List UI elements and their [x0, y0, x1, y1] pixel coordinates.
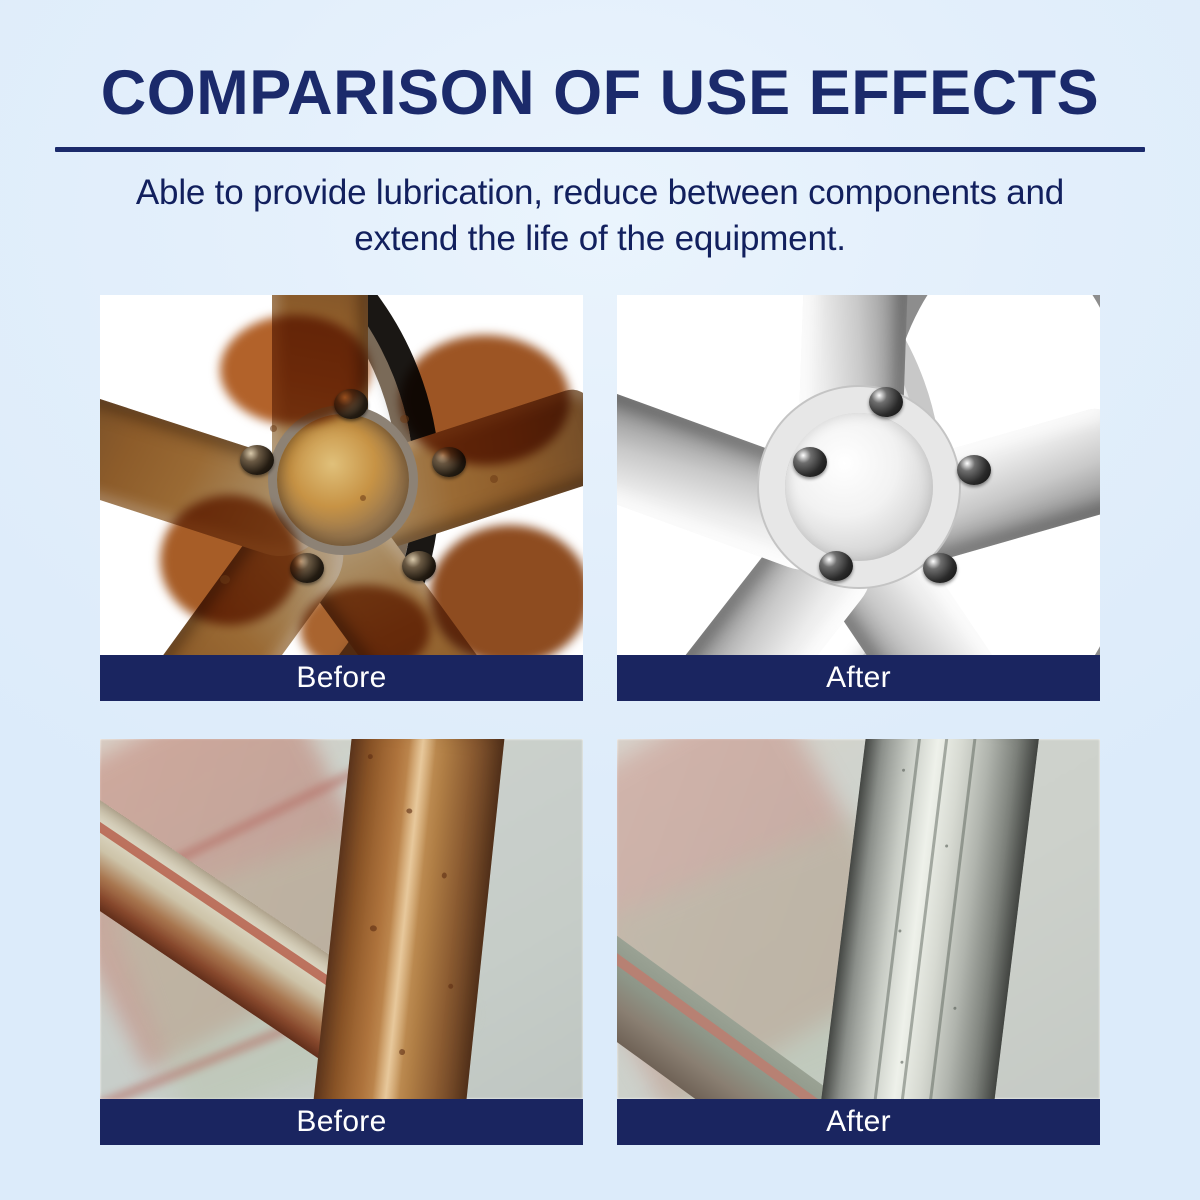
panel-wheel-before: Before — [100, 295, 583, 701]
panel-label-before: Before — [100, 1099, 583, 1145]
rust-speck — [370, 925, 378, 932]
pipe-speck — [898, 929, 901, 932]
rusty-wheel-illustration — [100, 295, 583, 655]
panel-pipe-before: Before — [100, 739, 583, 1145]
rust-blob — [220, 315, 370, 425]
photo-rusty-wheel — [100, 295, 583, 655]
rust-blob — [430, 525, 583, 655]
wheel-lug-nut — [869, 387, 903, 417]
page-subtitle: Able to provide lubrication, reduce betw… — [0, 170, 1200, 261]
pipe-speck — [902, 769, 905, 772]
rust-blob — [160, 495, 300, 625]
page-header: COMPARISON OF USE EFFECTS Able to provid… — [0, 0, 1200, 261]
panel-pipe-after: After — [617, 739, 1100, 1145]
rust-speck — [270, 425, 277, 432]
rust-speck — [220, 575, 230, 584]
pipe-speck — [945, 844, 948, 847]
rust-blob — [400, 335, 570, 465]
wheel-lug-nut — [402, 551, 436, 581]
comparison-grid: Before After — [100, 295, 1100, 1145]
wheel-lug-nut — [793, 447, 827, 477]
pipe-speck — [900, 1061, 903, 1064]
pipe-highlight — [368, 739, 439, 1099]
subtitle-line-2: extend the life of the equipment. — [0, 216, 1200, 262]
rust-speck — [490, 475, 498, 483]
panel-label-before: Before — [100, 655, 583, 701]
title-divider — [55, 147, 1145, 152]
wheel-lug-nut — [819, 551, 853, 581]
clean-wheel-illustration — [617, 295, 1100, 655]
subtitle-line-1: Able to provide lubrication, reduce betw… — [0, 170, 1200, 216]
photo-rusty-pipe — [100, 739, 583, 1099]
wheel-lug-nut — [240, 445, 274, 475]
photo-clean-pipe — [617, 739, 1100, 1099]
wheel-lug-nut — [957, 455, 991, 485]
panel-wheel-after: After — [617, 295, 1100, 701]
pipe-groove — [923, 739, 978, 1099]
wheel-hub — [785, 413, 933, 561]
rust-speck — [360, 495, 366, 501]
clean-pipe-illustration — [617, 739, 1100, 1099]
rust-speck — [368, 754, 373, 759]
photo-clean-wheel — [617, 295, 1100, 655]
pipe-groove — [869, 739, 924, 1099]
panel-label-after: After — [617, 655, 1100, 701]
rust-speck — [400, 415, 409, 423]
rust-speck — [441, 872, 447, 878]
rust-speck — [399, 1049, 406, 1056]
rusty-pipe-illustration — [100, 739, 583, 1099]
rust-speck — [448, 984, 453, 989]
pipe-speck — [953, 1007, 956, 1010]
pipe-groove — [896, 739, 951, 1099]
panel-label-after: After — [617, 1099, 1100, 1145]
wheel-lug-nut — [923, 553, 957, 583]
page-title: COMPARISON OF USE EFFECTS — [0, 62, 1200, 125]
